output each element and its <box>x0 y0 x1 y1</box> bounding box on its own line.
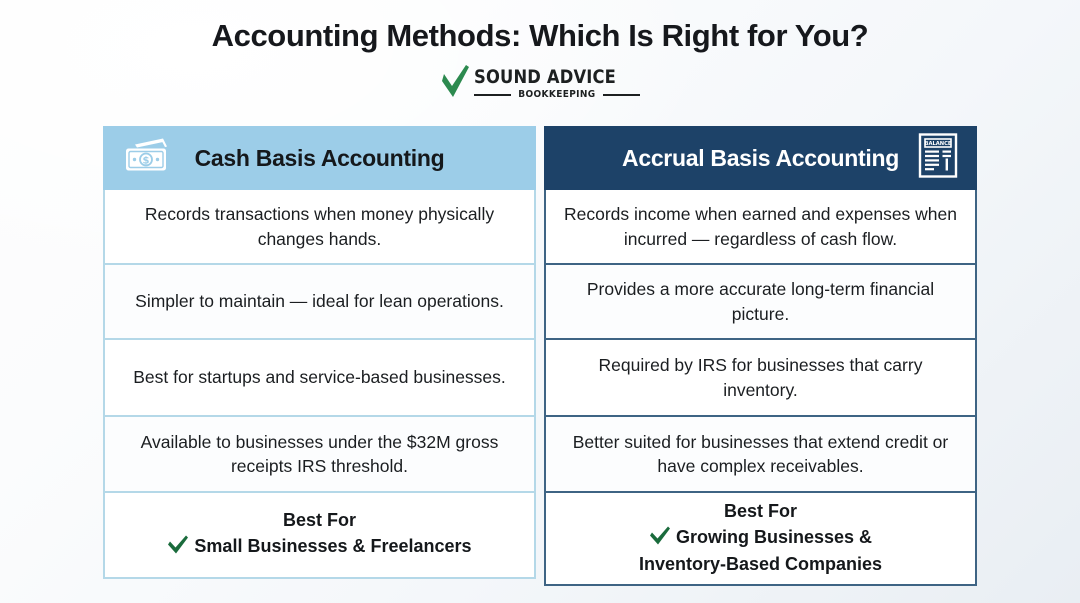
column-accrual-basis: Accrual Basis Accounting BALANCE <box>544 126 977 579</box>
column-title-accrual-basis: Accrual Basis Accounting <box>622 145 899 172</box>
best-for-block: Best For Growing Businesses & Inventory-… <box>639 499 882 578</box>
best-for-label: Best For <box>639 499 882 525</box>
comparison-table: $ Cash Basis Accounting Records transact… <box>103 126 977 579</box>
best-for-label: Best For <box>167 508 471 534</box>
table-cell: Best for startups and service-based busi… <box>103 340 536 417</box>
logo-wordmark: SOUND ADVICE BOOKKEEPING <box>474 68 639 100</box>
best-for-block: Best For Small Businesses & Freelancers <box>167 508 471 561</box>
best-for-body: Small Businesses & Freelancers <box>167 534 471 562</box>
column-header-accrual-basis: Accrual Basis Accounting BALANCE <box>544 126 977 190</box>
cash-banknote-icon: $ <box>123 138 171 179</box>
logo-sub-row: BOOKKEEPING <box>474 90 639 100</box>
table-cell: Better suited for businesses that extend… <box>544 417 977 493</box>
check-mark-icon <box>167 535 189 562</box>
table-cell: Provides a more accurate long-term finan… <box>544 265 977 340</box>
logo-rule-right <box>603 94 640 96</box>
table-cell-best-for: Best For Growing Businesses & Inventory-… <box>544 493 977 586</box>
check-mark-icon <box>649 526 671 553</box>
column-header-cash-basis: $ Cash Basis Accounting <box>103 126 536 190</box>
table-cell: Required by IRS for businesses that carr… <box>544 340 977 417</box>
table-cell: Available to businesses under the $32M g… <box>103 417 536 493</box>
logo-rule-left <box>474 94 511 96</box>
svg-text:BALANCE: BALANCE <box>925 141 952 147</box>
column-title-cash-basis: Cash Basis Accounting <box>195 145 445 172</box>
best-for-line-1: Growing Businesses & <box>676 527 872 547</box>
table-cell: Records income when earned and expenses … <box>544 190 977 265</box>
title-block: Accounting Methods: Which Is Right for Y… <box>0 0 1080 103</box>
table-cell-best-for: Best For Small Businesses & Freelancers <box>103 493 536 579</box>
page-title: Accounting Methods: Which Is Right for Y… <box>0 18 1080 54</box>
logo-primary-text: SOUND ADVICE <box>474 68 616 87</box>
column-cash-basis: $ Cash Basis Accounting Records transact… <box>103 126 536 579</box>
table-cell: Records transactions when money physical… <box>103 190 536 265</box>
svg-text:$: $ <box>143 156 150 167</box>
best-for-line-1: Small Businesses & Freelancers <box>194 536 471 556</box>
table-cell: Simpler to maintain — ideal for lean ope… <box>103 265 536 340</box>
best-for-line-2: Inventory-Based Companies <box>639 552 882 578</box>
brand-logo: SOUND ADVICE BOOKKEEPING <box>456 65 624 103</box>
best-for-body: Growing Businesses & Inventory-Based Com… <box>639 525 882 578</box>
logo-secondary-text: BOOKKEEPING <box>518 90 595 100</box>
infographic-page: Accounting Methods: Which Is Right for Y… <box>0 0 1080 603</box>
balance-sheet-document-icon: BALANCE <box>917 133 959 184</box>
check-mark-icon <box>440 64 470 103</box>
